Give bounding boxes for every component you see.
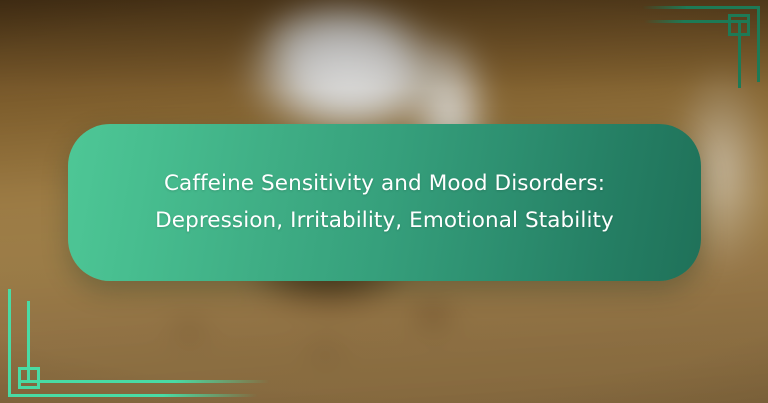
page-title-line-2: Depression, Irritability, Emotional Stab… <box>155 203 614 240</box>
page-canvas: Caffeine Sensitivity and Mood Disorders:… <box>0 0 768 403</box>
page-title-line-1: Caffeine Sensitivity and Mood Disorders: <box>164 166 605 203</box>
article-title-card: Caffeine Sensitivity and Mood Disorders:… <box>68 124 701 281</box>
